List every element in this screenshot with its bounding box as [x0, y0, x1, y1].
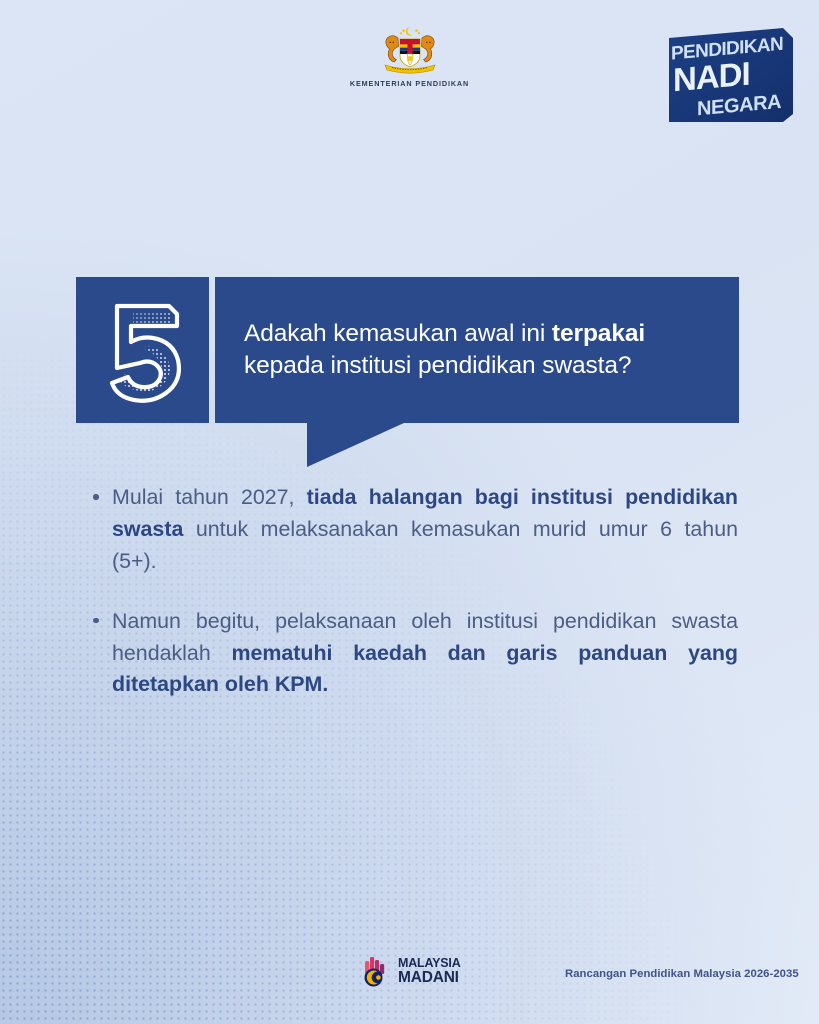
- pendidikan-nadi-negara-logo-icon[interactable]: PENDIDIKAN NADI NEGARA: [655, 22, 797, 126]
- list-item: Namun begitu, pelaksanaan oleh institusi…: [92, 606, 738, 702]
- madani-wordmark: MALAYSIA MADANI: [398, 957, 461, 986]
- question-number-panel: [76, 277, 209, 423]
- number-five-glyph: [95, 296, 191, 404]
- madani-line-2: MADANI: [398, 970, 461, 986]
- malaysia-coat-of-arms-icon: [372, 24, 448, 76]
- question-text: Adakah kemasukan awal ini terpakai kepad…: [215, 318, 659, 383]
- poster-footer: MALAYSIA MADANI Rancangan Pendidikan Mal…: [0, 952, 819, 1002]
- malaysia-madani-brand: MALAYSIA MADANI: [358, 954, 461, 988]
- poster-canvas: KEMENTERIAN PENDIDIKAN PENDIDIKAN NADI N…: [0, 0, 819, 1024]
- malaysia-madani-logo-icon: [358, 954, 394, 988]
- question-line2: kepada institusi pendidikan swasta?: [244, 352, 631, 379]
- list-item: Mulai tahun 2027, tiada halangan bagi in…: [92, 482, 738, 578]
- question-line1-plain: Adakah kemasukan awal ini: [244, 320, 552, 347]
- speech-bubble-tail: [307, 423, 404, 467]
- ministry-caption: KEMENTERIAN PENDIDIKAN: [310, 79, 510, 88]
- bullet-dot-icon: [93, 494, 99, 500]
- question-text-panel: Adakah kemasukan awal ini terpakai kepad…: [215, 277, 739, 423]
- bullet-1-text: Mulai tahun 2027, tiada halangan bagi in…: [112, 485, 738, 573]
- madani-line-1: MALAYSIA: [398, 957, 461, 970]
- answer-list: Mulai tahun 2027, tiada halangan bagi in…: [92, 482, 738, 701]
- bullet-2-text: Namun begitu, pelaksanaan oleh institusi…: [112, 609, 738, 697]
- question-banner: Adakah kemasukan awal ini terpakai kepad…: [76, 277, 739, 423]
- svg-text:NADI: NADI: [673, 56, 750, 100]
- footer-caption: Rancangan Pendidikan Malaysia 2026-2035: [565, 968, 799, 980]
- question-line1-bold: terpakai: [552, 320, 645, 347]
- poster-header: KEMENTERIAN PENDIDIKAN PENDIDIKAN NADI N…: [0, 0, 819, 140]
- bullet-dot-icon: [93, 618, 99, 624]
- ministry-brand: KEMENTERIAN PENDIDIKAN: [310, 24, 510, 88]
